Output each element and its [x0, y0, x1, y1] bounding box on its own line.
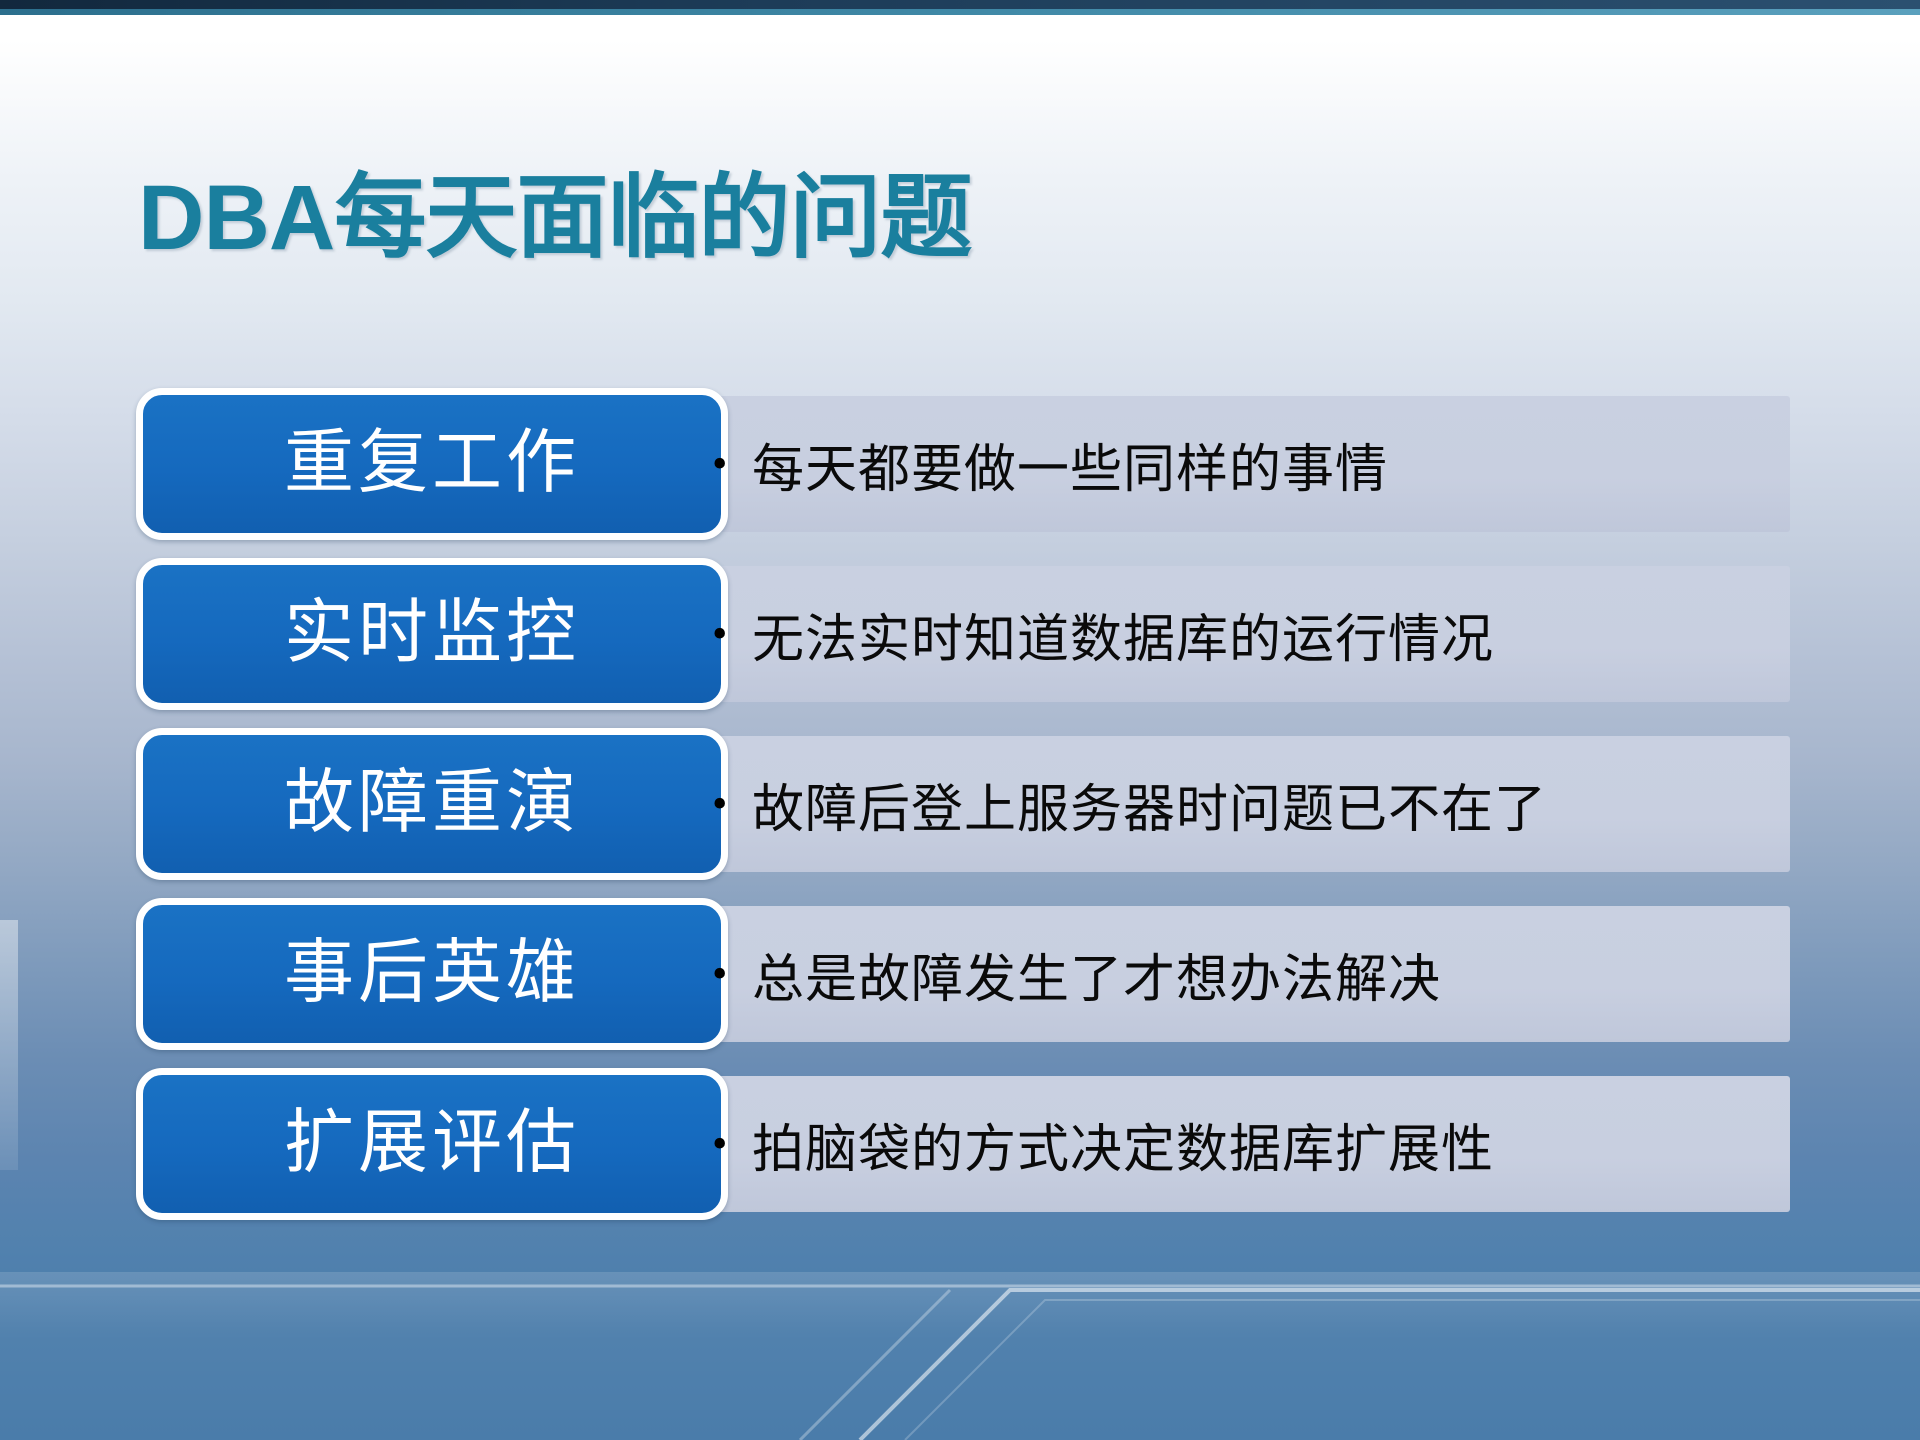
category-chip-label: 实时监控	[284, 599, 580, 669]
category-chip-label: 重复工作	[284, 429, 580, 499]
category-chip-4[interactable]: 事后英雄	[136, 898, 728, 1050]
category-chip-1[interactable]: 重复工作	[136, 388, 728, 540]
category-chip-label: 扩展评估	[284, 1109, 580, 1179]
bullet-marker-icon: •	[712, 388, 727, 540]
category-chip-5[interactable]: 扩展评估	[136, 1068, 728, 1220]
slide-canvas: DBA每天面临的问题 重复工作 • 每天都要做一些同样的事情 实时监控 • 无法…	[0, 0, 1920, 1440]
bottom-decoration	[0, 1272, 1920, 1440]
top-navy-strip	[0, 0, 1920, 9]
top-white-strip	[0, 15, 1920, 27]
bottom-swoosh-icon	[0, 1272, 1920, 1440]
bullet-marker-icon: •	[712, 728, 727, 880]
bullet-marker-icon: •	[712, 1068, 727, 1220]
bullet-text: 无法实时知道数据库的运行情况	[752, 558, 1494, 710]
category-chip-2[interactable]: 实时监控	[136, 558, 728, 710]
category-chip-3[interactable]: 故障重演	[136, 728, 728, 880]
list-item: 扩展评估 • 拍脑袋的方式决定数据库扩展性	[0, 1068, 1920, 1228]
list-item: 事后英雄 • 总是故障发生了才想办法解决	[0, 898, 1920, 1058]
list-item: 重复工作 • 每天都要做一些同样的事情	[0, 388, 1920, 548]
bullet-marker-icon: •	[712, 898, 727, 1050]
category-chip-label: 事后英雄	[284, 939, 580, 1009]
bullet-marker-icon: •	[712, 558, 727, 710]
list-item: 故障重演 • 故障后登上服务器时问题已不在了	[0, 728, 1920, 888]
category-chip-label: 故障重演	[284, 769, 580, 839]
bullet-text: 故障后登上服务器时问题已不在了	[752, 728, 1547, 880]
problem-list: 重复工作 • 每天都要做一些同样的事情 实时监控 • 无法实时知道数据库的运行情…	[0, 388, 1920, 1238]
page-title: DBA每天面临的问题	[138, 170, 971, 267]
bullet-text: 每天都要做一些同样的事情	[752, 388, 1388, 540]
list-item: 实时监控 • 无法实时知道数据库的运行情况	[0, 558, 1920, 718]
bullet-text: 拍脑袋的方式决定数据库扩展性	[752, 1068, 1494, 1220]
bullet-text: 总是故障发生了才想办法解决	[752, 898, 1441, 1050]
